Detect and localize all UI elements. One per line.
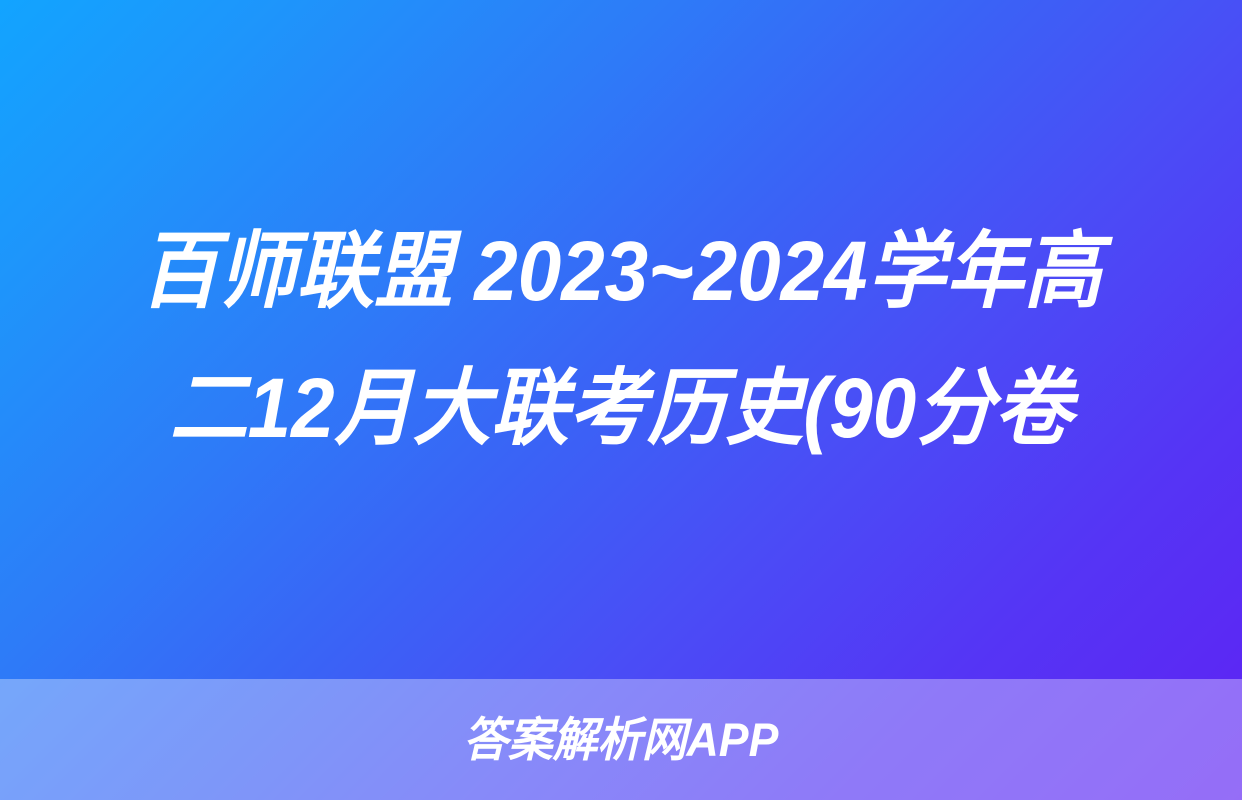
title-block: 百师联盟 2023~2024学年高二12月大联考历史(90分卷 xyxy=(0,0,1242,679)
exam-cover-poster: 百师联盟 2023~2024学年高二12月大联考历史(90分卷 答案解析网APP xyxy=(0,0,1242,800)
page-title: 百师联盟 2023~2024学年高二12月大联考历史(90分卷 xyxy=(119,203,1123,475)
footer-watermark-band: 答案解析网APP xyxy=(0,679,1242,800)
app-watermark-label: 答案解析网APP xyxy=(463,716,778,763)
